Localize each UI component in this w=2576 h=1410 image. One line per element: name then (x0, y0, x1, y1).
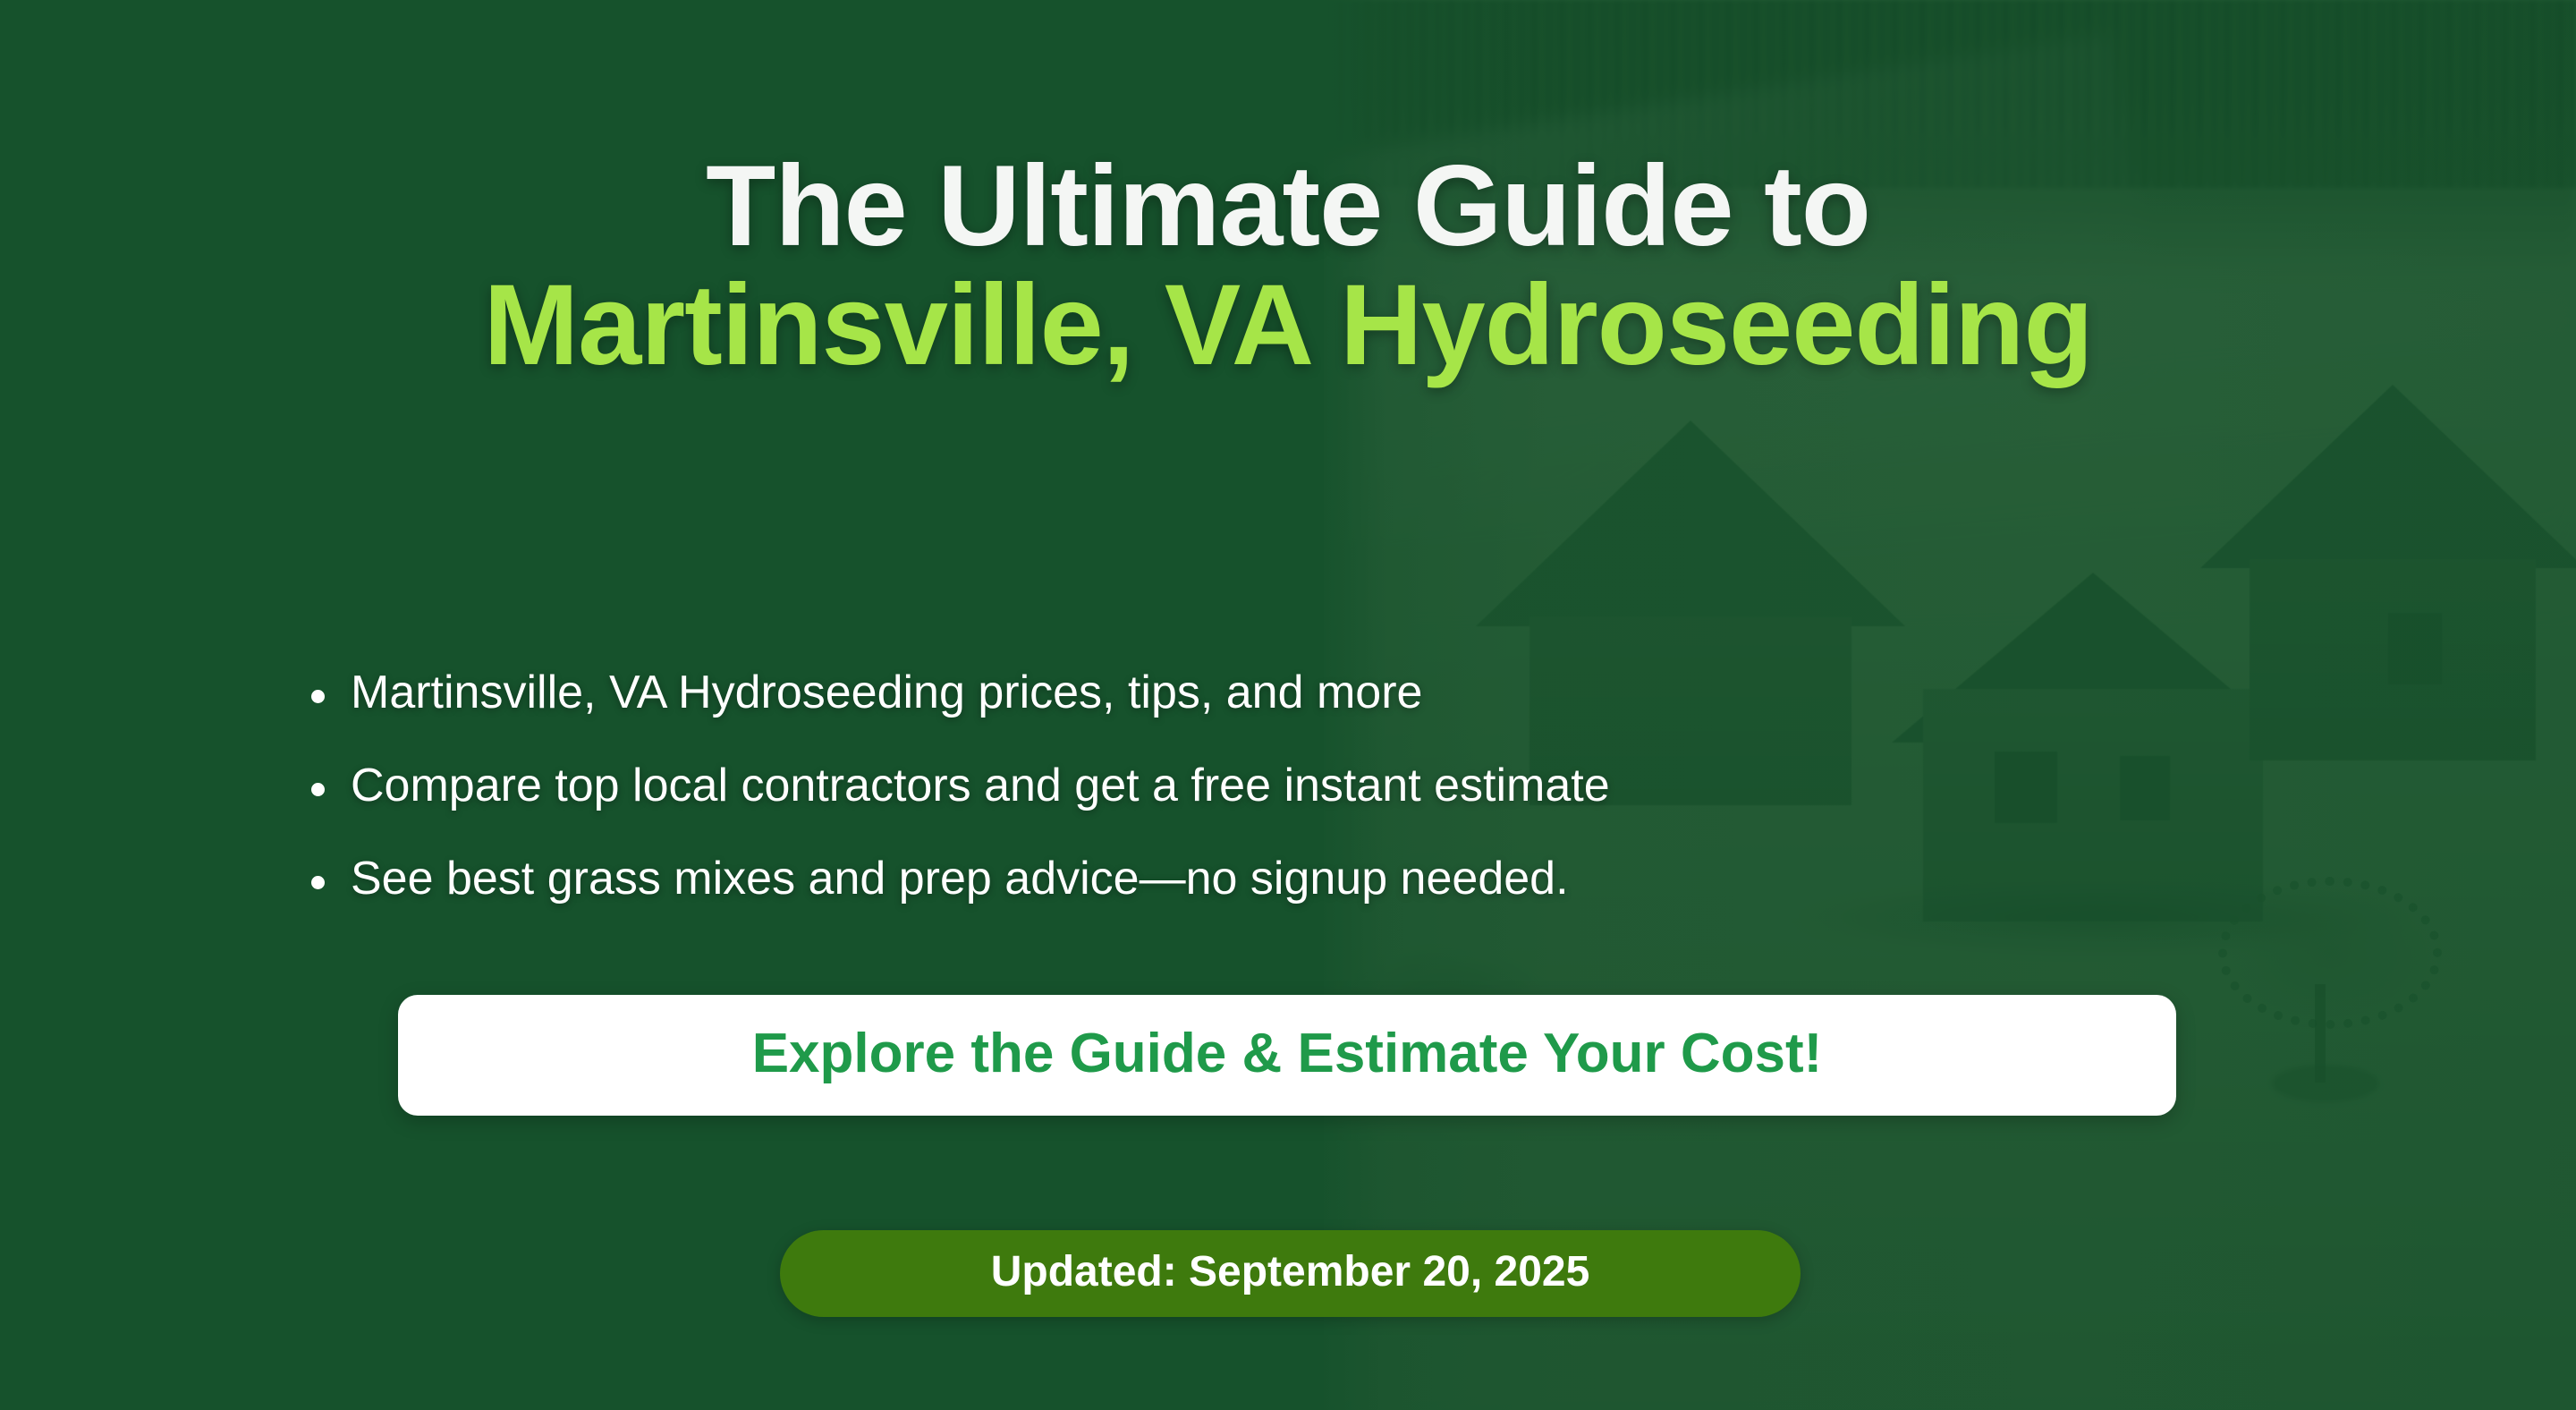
list-item: Martinsville, VA Hydroseeding prices, ti… (351, 667, 1610, 718)
cta-container: Explore the Guide & Estimate Your Cost! (398, 995, 2176, 1116)
list-item: See best grass mixes and prep advice—no … (351, 853, 1610, 905)
explore-guide-button[interactable]: Explore the Guide & Estimate Your Cost! (398, 995, 2176, 1116)
page-title: The Ultimate Guide to Martinsville, VA H… (0, 147, 2576, 385)
headline-line-1: The Ultimate Guide to (0, 147, 2576, 266)
benefits-list: Martinsville, VA Hydroseeding prices, ti… (295, 667, 1610, 947)
updated-date-badge: Updated: September 20, 2025 (780, 1230, 1801, 1317)
list-item: Compare top local contractors and get a … (351, 760, 1610, 811)
hero-banner: The Ultimate Guide to Martinsville, VA H… (0, 0, 2576, 1410)
banner-content: The Ultimate Guide to Martinsville, VA H… (0, 0, 2576, 1410)
headline-line-2: Martinsville, VA Hydroseeding (0, 266, 2576, 385)
